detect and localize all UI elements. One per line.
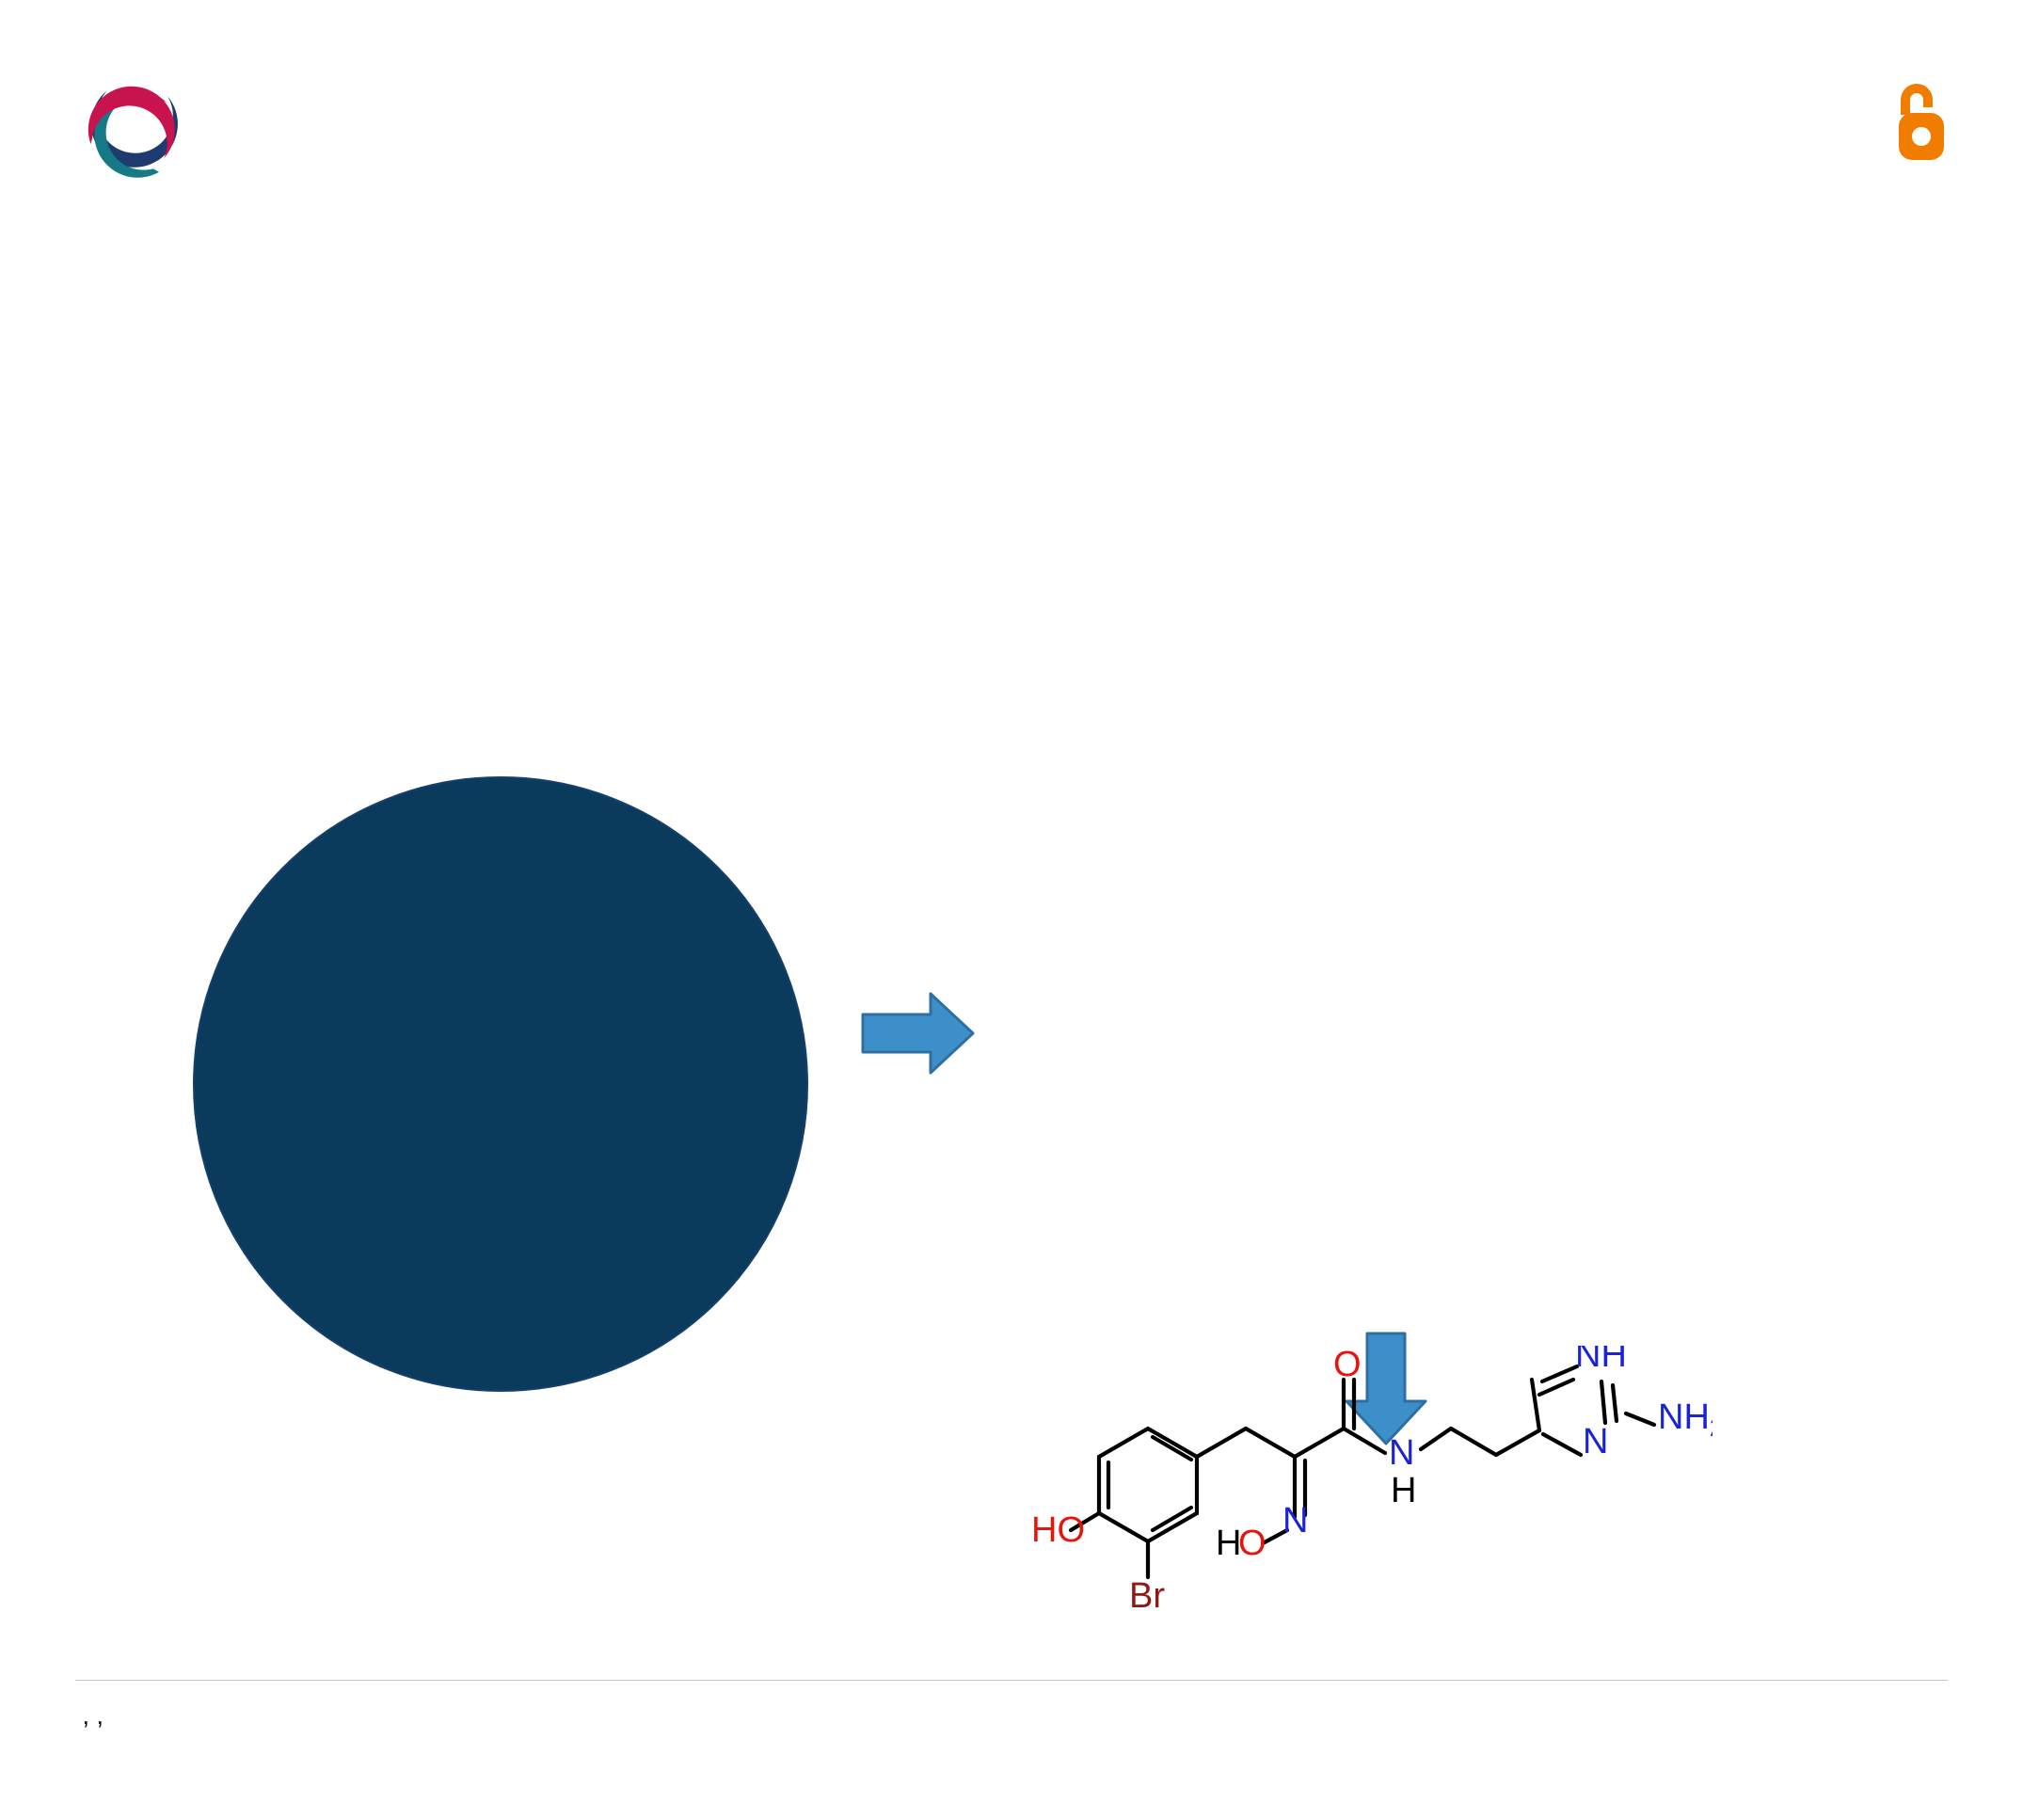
- amine-label: NH2: [1658, 1397, 1712, 1442]
- article-cover-page: HO Br H O N O N H NH N NH2 , ,: [0, 0, 2023, 1820]
- imidazole-n-label: N: [1583, 1422, 1608, 1461]
- coral-reef-photo: [193, 776, 808, 1392]
- carbonyl-o-label: O: [1333, 1346, 1362, 1384]
- citation: , ,: [75, 1701, 118, 1731]
- uhplc-chromatogram-chart: [941, 805, 1722, 1332]
- footer-divider: [75, 1680, 1948, 1681]
- oxime-n-label: N: [1282, 1501, 1308, 1541]
- open-access-badge: [1771, 72, 1950, 166]
- beilstein-logo-icon: [73, 68, 194, 188]
- open-lock-icon: [1893, 73, 1950, 164]
- imidazole-nh-label: NH: [1575, 1346, 1627, 1375]
- amide-h-label: H: [1391, 1471, 1416, 1510]
- masthead: [0, 0, 2023, 198]
- bromine-label: Br: [1129, 1576, 1165, 1616]
- phenol-ho-label: HO: [1031, 1510, 1085, 1550]
- oxime-o-label: O: [1238, 1524, 1266, 1563]
- amide-n-label: N: [1389, 1433, 1414, 1473]
- chemical-structure-5-debromopurealidin-h: HO Br H O N O N H NH N NH2: [1016, 1346, 1712, 1647]
